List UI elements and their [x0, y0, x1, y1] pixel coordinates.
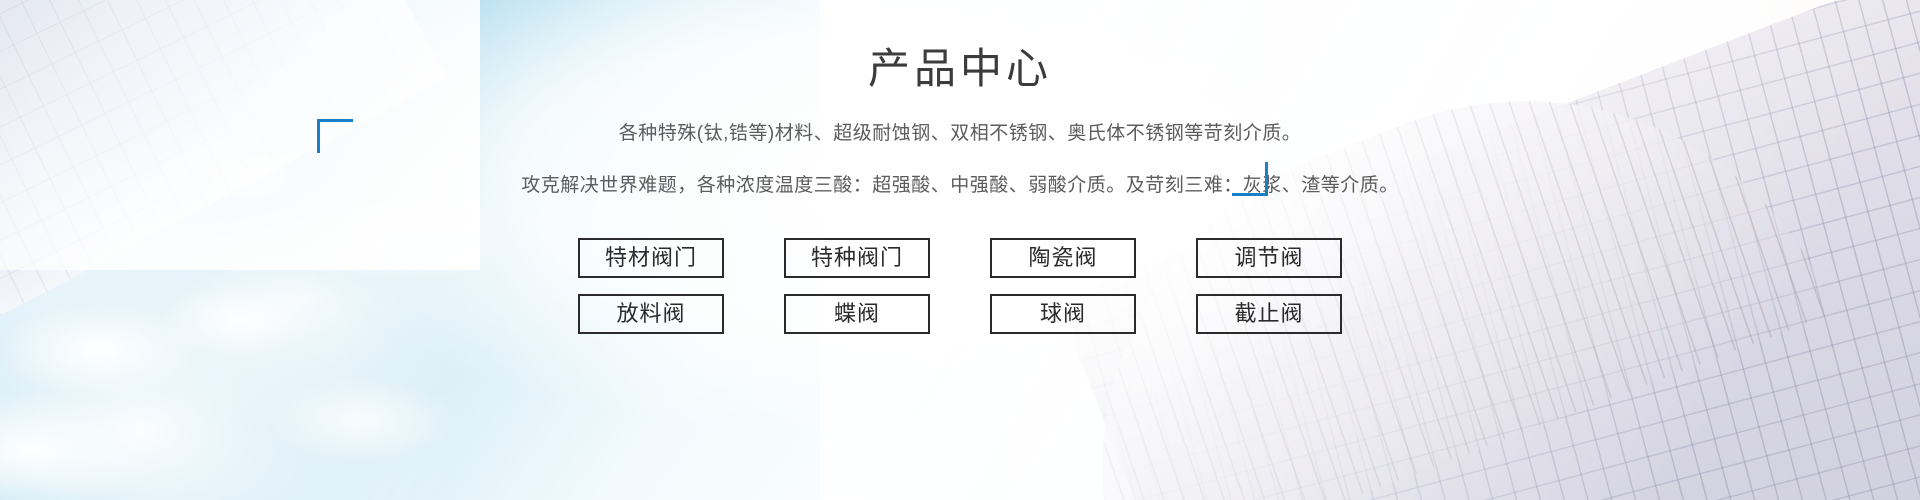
corner-bracket-top-left-icon — [317, 119, 353, 153]
category-button-grid: 特材阀门 特种阀门 陶瓷阀 调节阀 放料阀 蝶阀 球阀 截止阀 — [0, 238, 1920, 334]
category-button-globe-valve[interactable]: 截止阀 — [1196, 294, 1342, 334]
category-button-special-valve[interactable]: 特种阀门 — [784, 238, 930, 278]
banner-content: 产品中心 各种特殊(钛,锆等)材料、超级耐蚀钢、双相不锈钢、奥氏体不锈钢等苛刻介… — [0, 0, 1920, 500]
category-row-2: 放料阀 蝶阀 球阀 截止阀 — [578, 294, 1342, 334]
description-block: 各种特殊(钛,锆等)材料、超级耐蚀钢、双相不锈钢、奥氏体不锈钢等苛刻介质。 攻克… — [0, 124, 1920, 195]
category-button-ceramic-valve[interactable]: 陶瓷阀 — [990, 238, 1136, 278]
category-button-discharge-valve[interactable]: 放料阀 — [578, 294, 724, 334]
category-button-control-valve[interactable]: 调节阀 — [1196, 238, 1342, 278]
category-row-1: 特材阀门 特种阀门 陶瓷阀 调节阀 — [578, 238, 1342, 278]
category-button-butterfly-valve[interactable]: 蝶阀 — [784, 294, 930, 334]
page-title: 产品中心 — [0, 48, 1920, 90]
description-line-1: 各种特殊(钛,锆等)材料、超级耐蚀钢、双相不锈钢、奥氏体不锈钢等苛刻介质。 — [0, 124, 1920, 143]
description-line-2: 攻克解决世界难题，各种浓度温度三酸：超强酸、中强酸、弱酸介质。及苛刻三难：灰浆、… — [0, 176, 1920, 195]
category-button-techai-valve[interactable]: 特材阀门 — [578, 238, 724, 278]
category-button-ball-valve[interactable]: 球阀 — [990, 294, 1136, 334]
corner-bracket-bottom-right-icon — [1232, 162, 1268, 196]
product-center-banner: 产品中心 各种特殊(钛,锆等)材料、超级耐蚀钢、双相不锈钢、奥氏体不锈钢等苛刻介… — [0, 0, 1920, 500]
